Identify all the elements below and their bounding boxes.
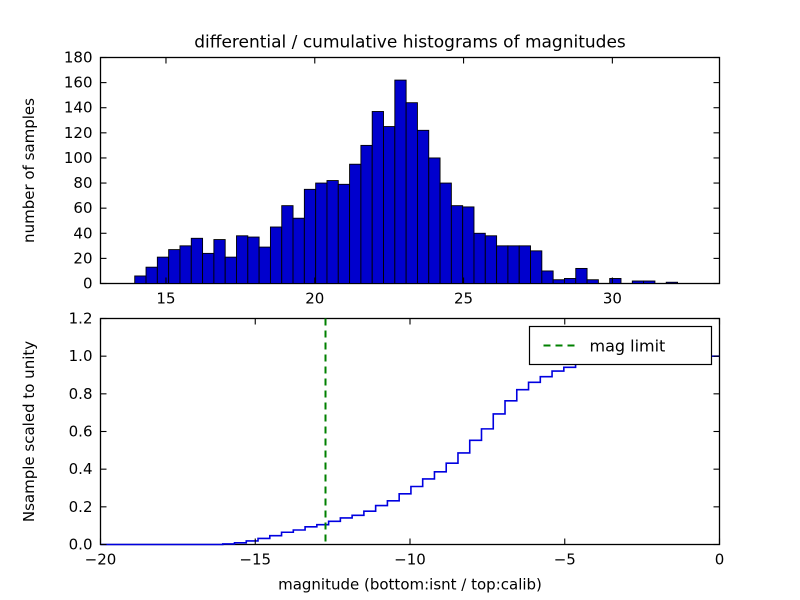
histogram-bar [225, 257, 236, 283]
y-tick-label: 60 [73, 199, 92, 217]
y-tick-label: 0.0 [69, 536, 93, 554]
histogram-bar [451, 206, 462, 284]
y-tick-label: 20 [73, 249, 92, 267]
chart-title: differential / cumulative histograms of … [194, 33, 626, 53]
histogram-bar [564, 278, 575, 283]
y-tick-label: 40 [73, 224, 92, 242]
histogram-bar [157, 257, 168, 283]
x-tick-label: 15 [156, 290, 175, 308]
histogram-bar [553, 280, 564, 284]
y-tick-label: 160 [64, 74, 93, 92]
histogram-bar [587, 280, 598, 284]
y-tick-label: 0.6 [69, 423, 93, 441]
histogram-bar [417, 130, 428, 283]
histogram-bar [191, 238, 202, 283]
histogram-bar [474, 233, 485, 283]
histogram-bar [384, 127, 395, 284]
histogram-bar [497, 246, 508, 284]
legend-label-mag-limit: mag limit [590, 337, 666, 356]
differential-histogram-y-axis-label: number of samples [20, 98, 38, 243]
histogram-bar [169, 250, 180, 284]
histogram-bar [203, 253, 214, 283]
histogram-bar [406, 103, 417, 284]
y-tick-label: 1.0 [69, 347, 93, 365]
x-tick-label: −5 [554, 551, 576, 569]
histogram-bar [293, 218, 304, 283]
histogram-bar [542, 271, 553, 284]
histogram-bar [282, 206, 293, 284]
cumulative-histogram-x-axis-label: magnitude (bottom:isnt / top:calib) [278, 576, 542, 594]
x-tick-label: 30 [603, 290, 622, 308]
histogram-bar [361, 145, 372, 283]
cumulative-histogram-y-axis-label: Nsample scaled to unity [20, 341, 38, 522]
histogram-bar [666, 282, 677, 283]
y-tick-label: 140 [64, 99, 93, 117]
histogram-bar [327, 181, 338, 284]
histogram-bar [440, 183, 451, 283]
y-tick-label: 80 [73, 174, 92, 192]
histogram-bar [372, 111, 383, 283]
histogram-bar [632, 281, 643, 284]
y-tick-label: 0.2 [69, 498, 93, 516]
histogram-bar [237, 236, 248, 284]
y-tick-label: 100 [64, 149, 93, 167]
histogram-bar [508, 246, 519, 284]
chart-canvas: 15202530020406080100120140160180number o… [0, 0, 800, 600]
matplotlib-figure: 15202530020406080100120140160180number o… [0, 0, 800, 600]
y-tick-label: 0 [83, 275, 93, 293]
y-tick-label: 120 [64, 124, 93, 142]
y-tick-label: 1.2 [69, 310, 93, 328]
histogram-bar [531, 251, 542, 284]
histogram-bar [146, 267, 157, 283]
histogram-bar [463, 207, 474, 284]
y-tick-label: 0.4 [69, 460, 93, 478]
histogram-bar [485, 236, 496, 284]
histogram-bar [259, 247, 270, 283]
histogram-bar [304, 189, 315, 283]
histogram-bar [519, 246, 530, 284]
histogram-bar [350, 164, 361, 283]
histogram-bar [316, 183, 327, 283]
x-tick-label: 25 [454, 290, 473, 308]
y-tick-label: 0.8 [69, 385, 93, 403]
histogram-bar [248, 237, 259, 283]
histogram-bar [180, 246, 191, 284]
histogram-bar [270, 227, 281, 284]
x-tick-label: 0 [715, 551, 725, 569]
histogram-bar [395, 80, 406, 283]
histogram-bar [429, 158, 440, 284]
x-tick-label: −15 [239, 551, 271, 569]
histogram-bar [338, 184, 349, 283]
histogram-bar [135, 276, 146, 284]
x-tick-label: 20 [305, 290, 324, 308]
histogram-bar [214, 240, 225, 284]
x-tick-label: −10 [394, 551, 426, 569]
histogram-bar [644, 281, 655, 284]
histogram-bar [576, 268, 587, 283]
y-tick-label: 180 [64, 49, 93, 67]
histogram-bar [610, 278, 621, 283]
